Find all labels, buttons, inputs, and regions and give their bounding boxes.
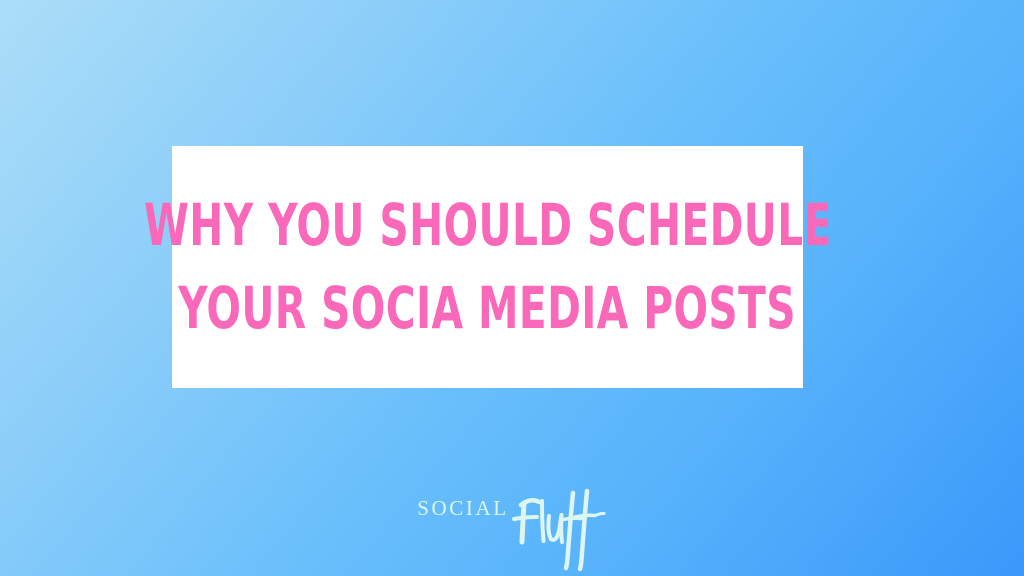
brand-logo: SOCIAL	[0, 484, 1024, 556]
brand-logo-wordmark: SOCIAL	[417, 498, 508, 519]
headline-line-2: YOUR SOCIA MEDIA POSTS	[179, 267, 797, 350]
brand-logo-inner: SOCIAL	[417, 498, 606, 568]
fluff-script-svg	[511, 484, 607, 576]
slide-canvas: WHY YOU SHOULD SCHEDULE YOUR SOCIA MEDIA…	[0, 0, 1024, 576]
brand-logo-script-fluff-icon	[511, 500, 607, 570]
headline-line-1: WHY YOU SHOULD SCHEDULE	[144, 184, 832, 267]
title-card: WHY YOU SHOULD SCHEDULE YOUR SOCIA MEDIA…	[172, 146, 803, 388]
